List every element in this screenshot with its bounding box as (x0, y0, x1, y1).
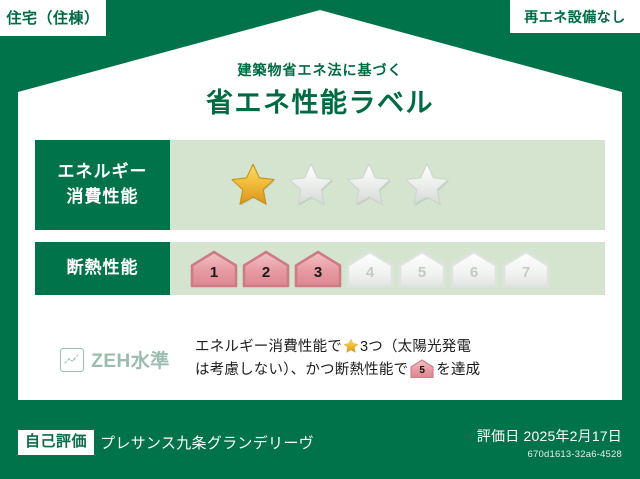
zeh-mark-icon (60, 348, 84, 372)
tag-building-type: 住宅（住棟） (0, 0, 106, 36)
zeh-note: ZEH水準 エネルギー消費性能で3つ（太陽光発電は考慮しない）、かつ断熱性能で5… (35, 336, 605, 383)
page-title: 省エネ性能ラベル (0, 81, 640, 120)
grade-badge-inactive: 6 (450, 250, 498, 288)
grade-badge-active: 3 (294, 250, 342, 288)
label-energy-performance: エネルギー 消費性能 (35, 140, 170, 230)
note-text-part3: は考慮しない）、かつ断熱性能で (195, 362, 408, 378)
star-filled-icon (228, 161, 278, 209)
row-insulation-performance: 断熱性能 1234567 (35, 242, 605, 295)
grade-badge-inactive: 5 (398, 250, 446, 288)
self-evaluation-badge: 自己評価 (18, 430, 94, 455)
tag-renewable-energy: 再エネ設備なし (510, 0, 640, 33)
grade-badge-value: 4 (346, 250, 394, 288)
label-insulation-text: 断熱性能 (67, 256, 139, 281)
footer-right: 評価日 2025年2月17日 670d1613-32a6-4528 (477, 426, 622, 460)
grade-badge-value: 7 (502, 250, 550, 288)
star-rating (228, 161, 452, 209)
inline-grade-badge: 5 (410, 359, 434, 378)
grade-badge-inactive: 7 (502, 250, 550, 288)
grade-badge-value: 2 (242, 250, 290, 288)
energy-rating-stars-area (170, 140, 605, 230)
zeh-description: エネルギー消費性能で3つ（太陽光発電は考慮しない）、かつ断熱性能で5を達成 (195, 336, 605, 383)
label-insulation-performance: 断熱性能 (35, 242, 170, 295)
zeh-standard-badge: ZEH水準 (35, 336, 195, 373)
star-empty-icon (286, 161, 336, 209)
metrics-container: エネルギー 消費性能 断熱性能 1234567 (35, 140, 605, 307)
grade-badge-value: 5 (398, 250, 446, 288)
building-name: プレサンス九条グランデリーヴ (100, 432, 314, 453)
grade-badge-value: 1 (190, 250, 238, 288)
evaluation-date: 評価日 2025年2月17日 (477, 426, 622, 446)
inline-grade-value: 5 (410, 359, 434, 378)
evaluation-id: 670d1613-32a6-4528 (477, 449, 622, 460)
zeh-label: ZEH水準 (91, 346, 170, 373)
label-energy-line2: 消費性能 (67, 185, 139, 210)
grade-badge-inactive: 4 (346, 250, 394, 288)
grade-badge-value: 6 (450, 250, 498, 288)
energy-performance-label: 住宅（住棟） 再エネ設備なし 建築物省エネ法に基づく 省エネ性能ラベル エネルギ… (0, 0, 640, 479)
star-empty-icon (344, 161, 394, 209)
row-energy-performance: エネルギー 消費性能 (35, 140, 605, 230)
grade-scale: 1234567 (190, 250, 550, 288)
title-subtitle: 建築物省エネ法に基づく (0, 60, 640, 80)
label-energy-line1: エネルギー (58, 160, 148, 185)
grade-badge-active: 2 (242, 250, 290, 288)
footer-left: 自己評価 プレサンス九条グランデリーヴ (18, 430, 314, 455)
footer: 自己評価 プレサンス九条グランデリーヴ 評価日 2025年2月17日 670d1… (0, 400, 640, 479)
star-empty-icon (402, 161, 452, 209)
inline-star-icon (343, 338, 359, 354)
grade-badge-value: 3 (294, 250, 342, 288)
insulation-grades-area: 1234567 (170, 242, 605, 295)
note-text-part2: 3つ（太陽光発電 (360, 339, 471, 355)
note-text-part4: を達成 (436, 362, 480, 378)
note-text-part1: エネルギー消費性能で (195, 339, 342, 355)
grade-badge-active: 1 (190, 250, 238, 288)
